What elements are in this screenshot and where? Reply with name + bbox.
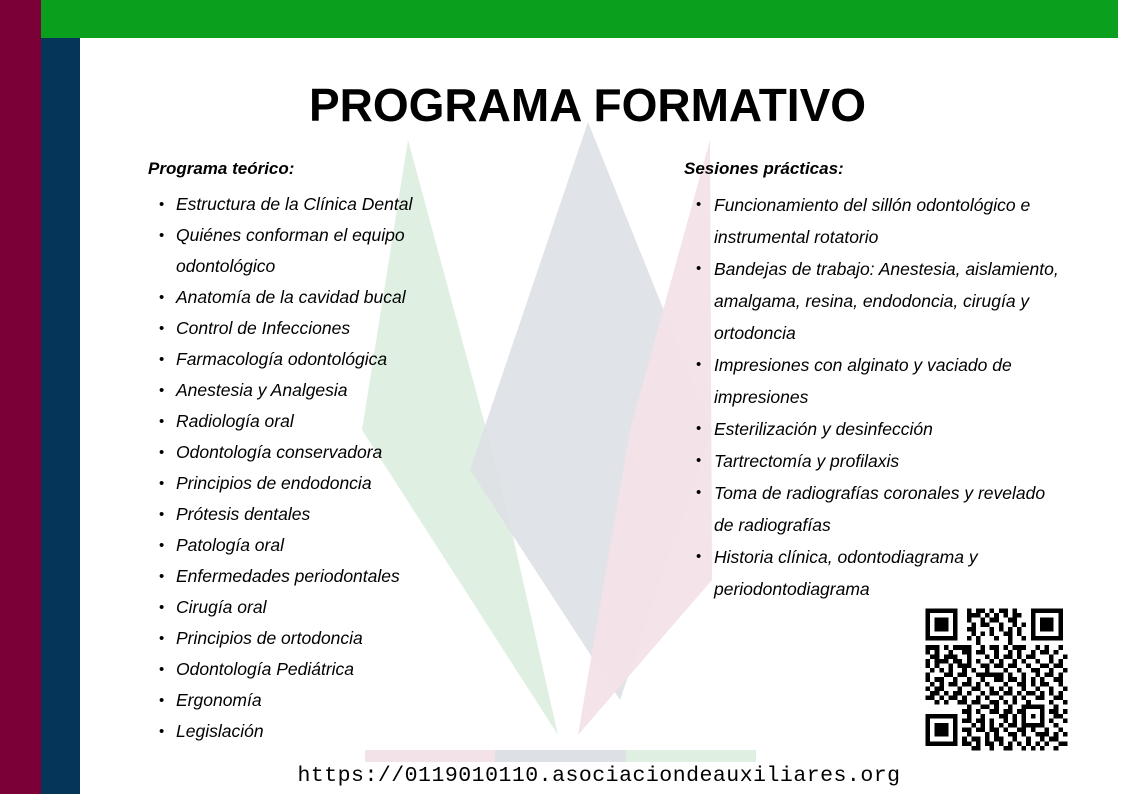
list-item: Principios de ortodoncia — [148, 623, 478, 654]
top-accent-band-green — [41, 0, 1118, 38]
left-accent-bar-maroon — [0, 0, 41, 794]
column-programa-teorico: Programa teórico: Estructura de la Clíni… — [148, 158, 478, 747]
topic-list-left: Estructura de la Clínica Dental Quiénes … — [148, 189, 478, 747]
list-item: Patología oral — [148, 530, 478, 561]
qr-code-image — [921, 604, 1072, 755]
stripe-bluegray — [495, 750, 626, 762]
column-sesiones-practicas: Sesiones prácticas: Funcionamiento del s… — [684, 158, 1064, 605]
list-item: Funcionamiento del sillón odontológico e… — [684, 189, 1064, 253]
list-item: Bandejas de trabajo: Anestesia, aislamie… — [684, 253, 1064, 349]
slide-canvas: PROGRAMA FORMATIVO Programa teórico: Est… — [0, 0, 1123, 794]
column-heading-right: Sesiones prácticas: — [684, 158, 1064, 180]
page-title: PROGRAMA FORMATIVO — [80, 80, 1095, 131]
list-item: Anatomía de la cavidad bucal — [148, 282, 478, 313]
list-item: Odontología conservadora — [148, 437, 478, 468]
list-item: Odontología Pediátrica — [148, 654, 478, 685]
list-item: Cirugía oral — [148, 592, 478, 623]
list-item: Toma de radiografías coronales y revelad… — [684, 477, 1064, 541]
list-item: Radiología oral — [148, 406, 478, 437]
column-heading-left: Programa teórico: — [148, 158, 478, 180]
list-item: Estructura de la Clínica Dental — [148, 189, 478, 220]
list-item: Prótesis dentales — [148, 499, 478, 530]
footer-color-stripes — [365, 750, 756, 762]
list-item: Farmacología odontológica — [148, 344, 478, 375]
slide-content: PROGRAMA FORMATIVO Programa teórico: Est… — [0, 0, 1123, 794]
list-item: Quiénes conforman el equipo odontológico — [148, 220, 478, 282]
stripe-green — [626, 750, 756, 762]
list-item: Legislación — [148, 716, 478, 747]
footer-url[interactable]: https://0119010110.asociaciondeauxiliare… — [80, 764, 1118, 788]
topic-list-right: Funcionamiento del sillón odontológico e… — [684, 189, 1064, 605]
stripe-pink — [365, 750, 495, 762]
list-item: Enfermedades periodontales — [148, 561, 478, 592]
list-item: Control de Infecciones — [148, 313, 478, 344]
left-accent-bar-navy — [41, 38, 80, 794]
qr-code-icon[interactable] — [921, 604, 1072, 755]
list-item: Tartrectomía y profilaxis — [684, 445, 1064, 477]
list-item: Esterilización y desinfección — [684, 413, 1064, 445]
list-item: Anestesia y Analgesia — [148, 375, 478, 406]
list-item: Historia clínica, odontodiagrama y perio… — [684, 541, 1064, 605]
list-item: Impresiones con alginato y vaciado de im… — [684, 349, 1064, 413]
list-item: Principios de endodoncia — [148, 468, 478, 499]
list-item: Ergonomía — [148, 685, 478, 716]
